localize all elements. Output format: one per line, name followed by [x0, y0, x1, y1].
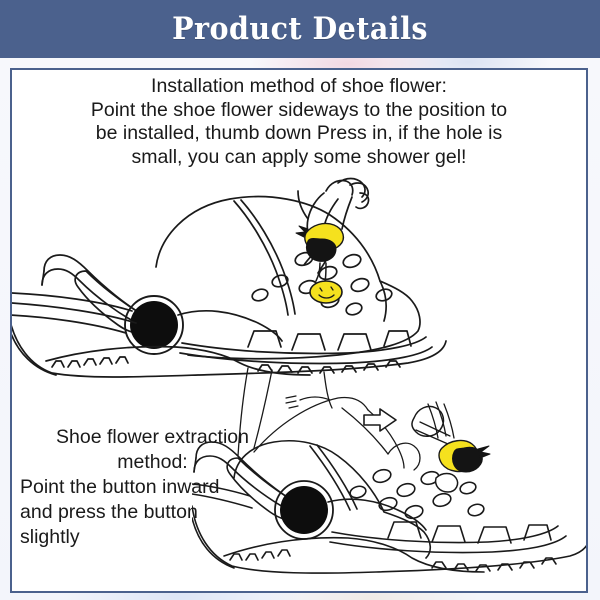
page-title: Product Details [172, 14, 428, 45]
installation-instructions-text: Installation method of shoe flower: Poin… [12, 75, 586, 169]
extraction-body: Point the button inward and press the bu… [20, 475, 285, 550]
charm-held-icon [296, 223, 343, 261]
pivot-button-icon [280, 486, 328, 534]
illustration-installation [10, 175, 478, 380]
extraction-instructions-text: Shoe flower extraction method: Point the… [20, 425, 285, 550]
page-root: Product Details Installation method of s… [0, 0, 600, 600]
charm-removed-icon [439, 441, 490, 472]
charm-extraction-pin-icon [412, 402, 454, 444]
extraction-arrow-icon [364, 409, 396, 431]
pivot-button-icon [130, 301, 178, 349]
extraction-heading: Shoe flower extraction method: [20, 425, 285, 475]
product-details-card: Installation method of shoe flower: Poin… [10, 68, 588, 593]
charm-inserted-smiley-icon [310, 281, 342, 303]
clog-shoe-installation-drawing [10, 175, 478, 380]
product-details-banner: Product Details [0, 0, 600, 58]
